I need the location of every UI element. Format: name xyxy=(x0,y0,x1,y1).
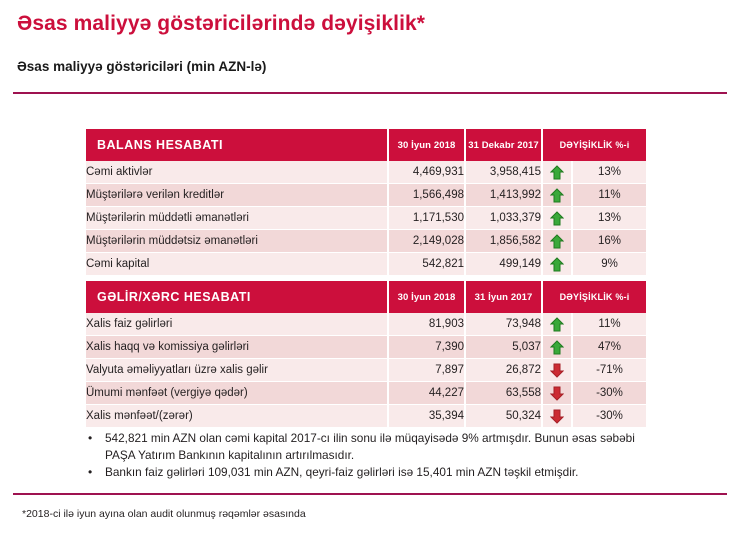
arrow-down-icon xyxy=(542,382,572,405)
header-cell-period2: 31 Dekabr 2017 xyxy=(465,129,542,161)
cell-value-period1: 44,227 xyxy=(388,382,465,405)
table-row: Cəmi aktivlər4,469,9313,958,41513% xyxy=(86,161,646,184)
arrow-up-icon xyxy=(542,184,572,207)
row-label: Xalis haqq və komissiya gəlirləri xyxy=(86,336,388,359)
cell-value-period1: 81,903 xyxy=(388,313,465,336)
table-row: Müştərilərə verilən kreditlər1,566,4981,… xyxy=(86,184,646,207)
header-cell-title: GƏLİR/XƏRC HESABATI xyxy=(86,281,388,313)
balance-sheet-table-container: BALANS HESABATI 30 İyun 2018 31 Dekabr 2… xyxy=(86,129,646,276)
cell-change-percent: 11% xyxy=(572,184,646,207)
bullet-marker-icon: • xyxy=(86,464,105,481)
cell-value-period2: 63,558 xyxy=(465,382,542,405)
cell-value-period2: 5,037 xyxy=(465,336,542,359)
list-item-line: 542,821 min AZN olan cəmi kapital 2017-c… xyxy=(105,430,635,447)
list-item: •542,821 min AZN olan cəmi kapital 2017-… xyxy=(86,430,686,463)
row-label: Cəmi aktivlər xyxy=(86,161,388,184)
cell-change-percent: -30% xyxy=(572,382,646,405)
cell-value-period1: 4,469,931 xyxy=(388,161,465,184)
table-row: Valyuta əməliyyatları üzrə xalis gəlir7,… xyxy=(86,359,646,382)
header-cell-period2: 31 İyun 2017 xyxy=(465,281,542,313)
arrow-up-icon xyxy=(542,313,572,336)
arrow-down-icon xyxy=(542,359,572,382)
list-item-text: Bankın faiz gəlirləri 109,031 min AZN, q… xyxy=(105,464,578,481)
income-statement-table: GƏLİR/XƏRC HESABATI 30 İyun 2018 31 İyun… xyxy=(86,281,646,428)
list-item-text: 542,821 min AZN olan cəmi kapital 2017-c… xyxy=(105,430,635,463)
page-subtitle: Əsas maliyyə göstəriciləri (min AZN-lə) xyxy=(17,59,266,74)
cell-value-period2: 3,958,415 xyxy=(465,161,542,184)
cell-value-period2: 1,033,379 xyxy=(465,207,542,230)
arrow-up-icon xyxy=(542,161,572,184)
table-row: Cəmi kapital542,821499,1499% xyxy=(86,253,646,276)
cell-value-period2: 73,948 xyxy=(465,313,542,336)
row-label: Xalis faiz gəlirləri xyxy=(86,313,388,336)
cell-value-period1: 542,821 xyxy=(388,253,465,276)
cell-value-period1: 2,149,028 xyxy=(388,230,465,253)
income-statement-body: Xalis faiz gəlirləri81,90373,94811%Xalis… xyxy=(86,313,646,428)
cell-change-percent: 9% xyxy=(572,253,646,276)
cell-value-period2: 50,324 xyxy=(465,405,542,428)
row-label: Xalis mənfəət/(zərər) xyxy=(86,405,388,428)
header-cell-title: BALANS HESABATI xyxy=(86,129,388,161)
table-header-row: BALANS HESABATI 30 İyun 2018 31 Dekabr 2… xyxy=(86,129,646,161)
cell-change-percent: 11% xyxy=(572,313,646,336)
header-cell-change: DƏYİŞİKLİK %-i xyxy=(542,129,646,161)
list-item: •Bankın faiz gəlirləri 109,031 min AZN, … xyxy=(86,464,686,481)
table-header-row: GƏLİR/XƏRC HESABATI 30 İyun 2018 31 İyun… xyxy=(86,281,646,313)
row-label: Müştərilərə verilən kreditlər xyxy=(86,184,388,207)
divider-bottom xyxy=(13,493,727,495)
cell-value-period1: 35,394 xyxy=(388,405,465,428)
arrow-up-icon xyxy=(542,336,572,359)
table-row: Xalis haqq və komissiya gəlirləri7,3905,… xyxy=(86,336,646,359)
header-cell-change: DƏYİŞİKLİK %-i xyxy=(542,281,646,313)
row-label: Cəmi kapital xyxy=(86,253,388,276)
cell-change-percent: 16% xyxy=(572,230,646,253)
cell-change-percent: -30% xyxy=(572,405,646,428)
cell-value-period1: 1,171,530 xyxy=(388,207,465,230)
list-item-line: Bankın faiz gəlirləri 109,031 min AZN, q… xyxy=(105,464,578,481)
cell-value-period1: 7,390 xyxy=(388,336,465,359)
row-label: Ümumi mənfəət (vergiyə qədər) xyxy=(86,382,388,405)
balance-sheet-table: BALANS HESABATI 30 İyun 2018 31 Dekabr 2… xyxy=(86,129,646,276)
list-item-line: PAŞA Yatırım Bankının kapitalının artırı… xyxy=(105,447,635,464)
cell-change-percent: 47% xyxy=(572,336,646,359)
cell-value-period2: 26,872 xyxy=(465,359,542,382)
arrow-up-icon xyxy=(542,253,572,276)
cell-value-period1: 1,566,498 xyxy=(388,184,465,207)
row-label: Müştərilərin müddətli əmanətləri xyxy=(86,207,388,230)
table-row: Müştərilərin müddətsiz əmanətləri2,149,0… xyxy=(86,230,646,253)
cell-change-percent: -71% xyxy=(572,359,646,382)
header-cell-period1: 30 İyun 2018 xyxy=(388,129,465,161)
cell-value-period2: 1,413,992 xyxy=(465,184,542,207)
arrow-down-icon xyxy=(542,405,572,428)
cell-value-period2: 499,149 xyxy=(465,253,542,276)
divider-top xyxy=(13,92,727,94)
commentary-list: •542,821 min AZN olan cəmi kapital 2017-… xyxy=(86,430,686,482)
cell-value-period2: 1,856,582 xyxy=(465,230,542,253)
arrow-up-icon xyxy=(542,230,572,253)
row-label: Müştərilərin müddətsiz əmanətləri xyxy=(86,230,388,253)
table-row: Ümumi mənfəət (vergiyə qədər)44,22763,55… xyxy=(86,382,646,405)
balance-sheet-body: Cəmi aktivlər4,469,9313,958,41513%Müştər… xyxy=(86,161,646,276)
row-label: Valyuta əməliyyatları üzrə xalis gəlir xyxy=(86,359,388,382)
cell-change-percent: 13% xyxy=(572,207,646,230)
bullet-marker-icon: • xyxy=(86,430,105,447)
page-title: Əsas maliyyə göstəricilərində dəyişiklik… xyxy=(17,12,425,36)
header-cell-period1: 30 İyun 2018 xyxy=(388,281,465,313)
footnote: *2018-ci ilə iyun ayına olan audit olunm… xyxy=(22,508,306,520)
table-row: Xalis faiz gəlirləri81,90373,94811% xyxy=(86,313,646,336)
income-statement-table-container: GƏLİR/XƏRC HESABATI 30 İyun 2018 31 İyun… xyxy=(86,281,646,428)
cell-value-period1: 7,897 xyxy=(388,359,465,382)
table-row: Müştərilərin müddətli əmanətləri1,171,53… xyxy=(86,207,646,230)
cell-change-percent: 13% xyxy=(572,161,646,184)
table-row: Xalis mənfəət/(zərər)35,39450,324-30% xyxy=(86,405,646,428)
arrow-up-icon xyxy=(542,207,572,230)
